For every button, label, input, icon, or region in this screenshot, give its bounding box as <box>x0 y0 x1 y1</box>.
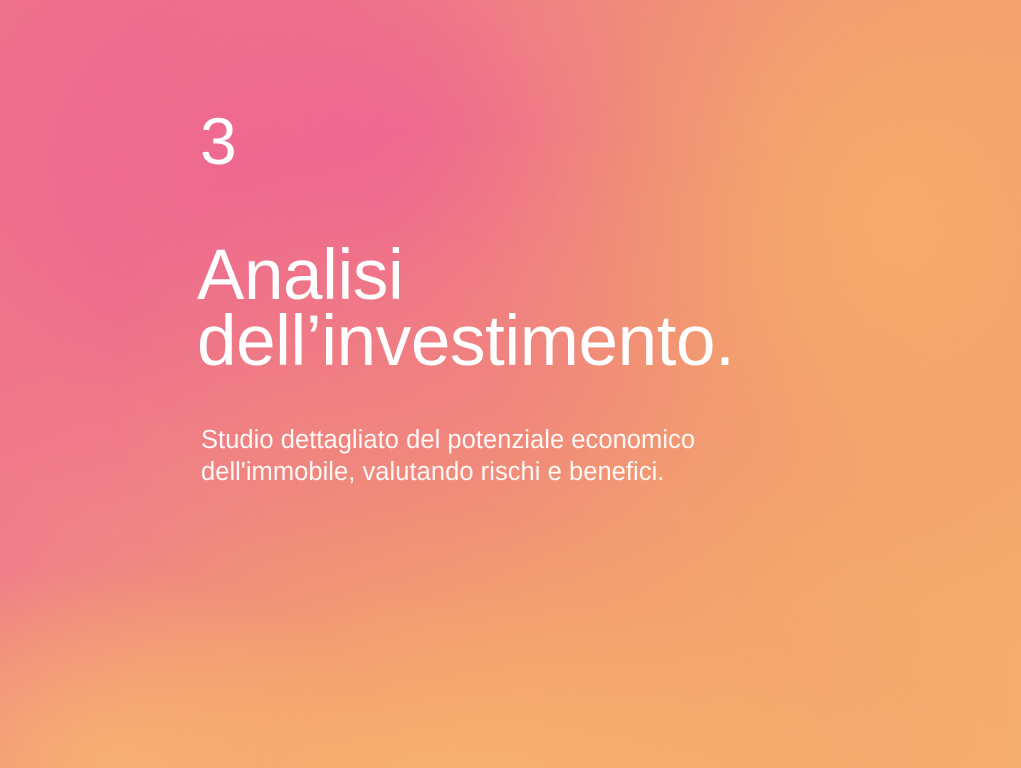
page-title: Analisi dell’investimento. <box>197 243 734 375</box>
slide-content: 3 Analisi dell’investimento. Studio dett… <box>200 0 900 768</box>
page-title-line-1: Analisi <box>197 243 734 309</box>
section-number: 3 <box>200 108 237 174</box>
presentation-slide: 3 Analisi dell’investimento. Studio dett… <box>0 0 1021 768</box>
page-subtitle-line-1: Studio dettagliato del potenziale econom… <box>201 424 695 456</box>
page-subtitle: Studio dettagliato del potenziale econom… <box>201 424 695 488</box>
page-title-line-2: dell’investimento. <box>197 309 734 375</box>
page-subtitle-line-2: dell'immobile, valutando rischi e benefi… <box>201 456 695 488</box>
